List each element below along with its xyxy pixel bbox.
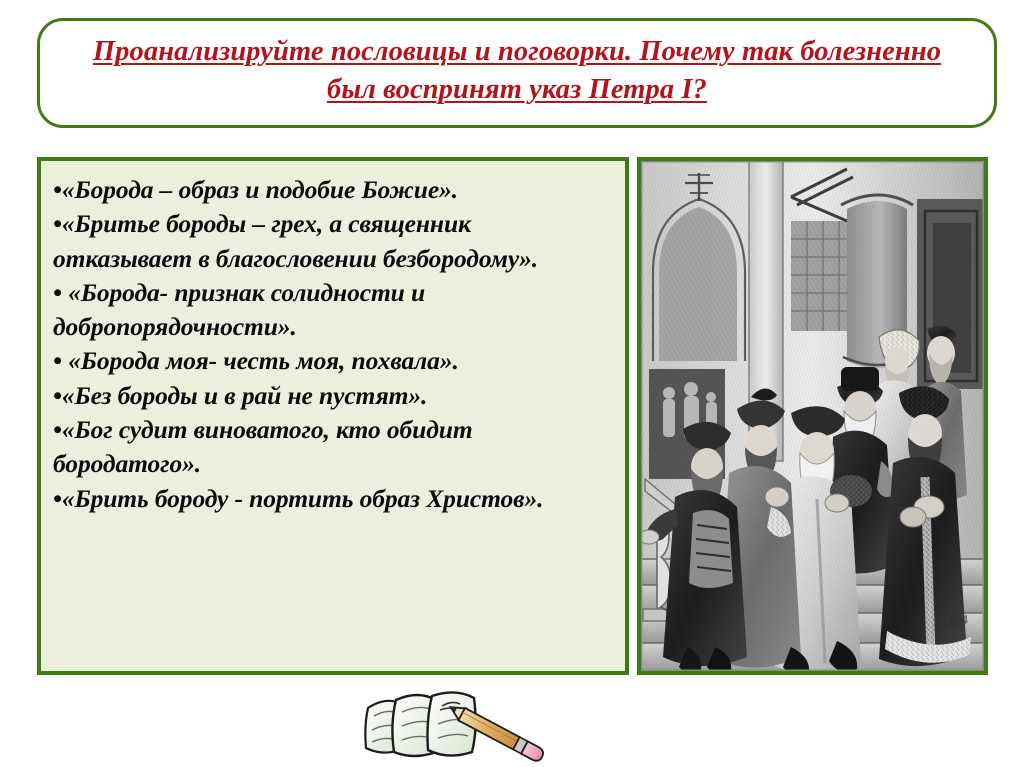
title-banner: Проанализируйте пословицы и поговорки. П… <box>37 18 997 128</box>
list-item: •«Брить бороду - портить образ Христов». <box>53 482 615 516</box>
papers-and-pencil-icon <box>352 686 552 764</box>
page-title: Проанализируйте пословицы и поговорки. П… <box>66 33 968 108</box>
proverbs-list: •«Борода – образ и подобие Божие». •«Бри… <box>53 173 615 516</box>
historical-engraving-image <box>641 161 984 671</box>
list-item: •«Без бороды и в рай не пустят». <box>53 379 615 413</box>
list-item: •«Бог судит виноватого, кто обидит бород… <box>53 413 615 482</box>
proverbs-panel: •«Борода – образ и подобие Божие». •«Бри… <box>37 157 629 675</box>
list-item: •«Бритье бороды – грех, а священник отка… <box>53 207 615 276</box>
list-item: • «Борода- признак солидности и добропор… <box>53 276 615 345</box>
illustration-frame: 1894 <box>637 157 988 675</box>
list-item: • «Борода моя- честь моя, похвала». <box>53 344 615 378</box>
artist-signature: 1894 <box>941 612 969 631</box>
slide-canvas: Проанализируйте пословицы и поговорки. П… <box>0 0 1024 767</box>
list-item: •«Борода – образ и подобие Божие». <box>53 173 615 207</box>
